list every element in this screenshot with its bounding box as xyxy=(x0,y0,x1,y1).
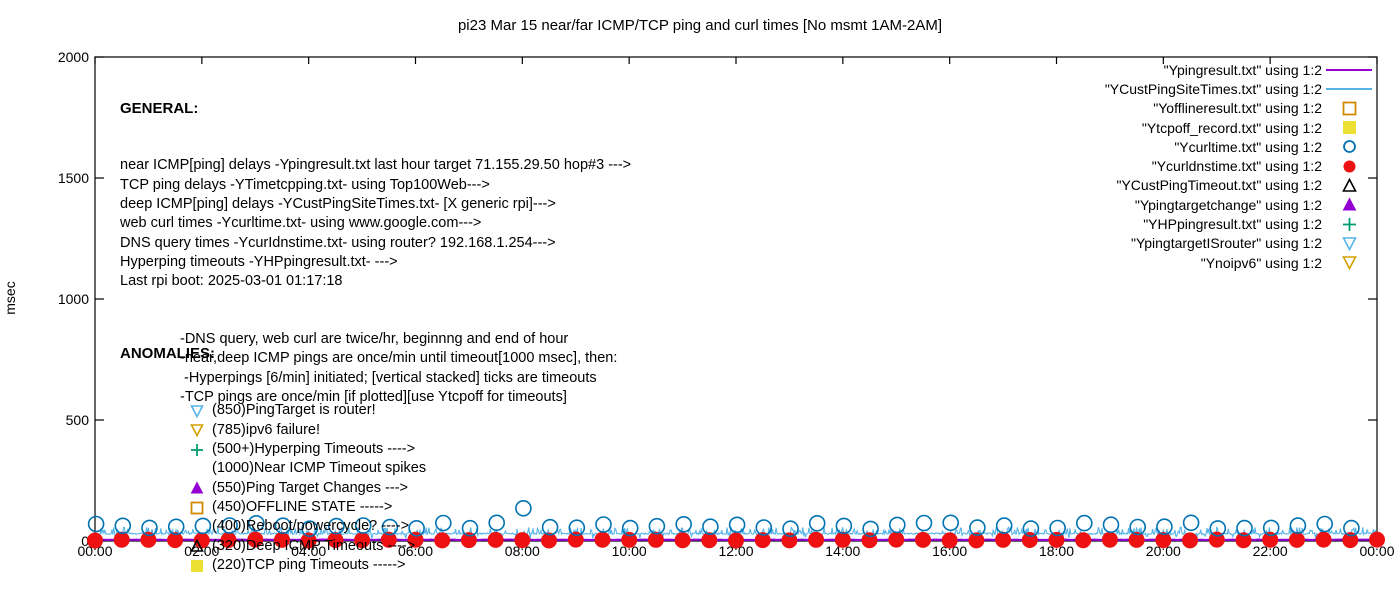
point-ycurltime xyxy=(997,518,1012,533)
point-ycurldnstime xyxy=(488,532,503,547)
legend-key-ypingtargetchange xyxy=(1322,197,1376,212)
legend-key-ypingtargetisrouter xyxy=(1322,236,1376,251)
point-ycurldnstime xyxy=(729,533,744,548)
point-ycurltime xyxy=(1157,519,1172,534)
anomalies-heading: ANOMALIES: xyxy=(120,344,426,363)
chart-root: pi23 Mar 15 near/far ICMP/TCP ping and c… xyxy=(0,0,1400,600)
legend-label: "Ycurltime.txt" using 1:2 xyxy=(1174,139,1322,155)
anomaly-label: (320)Deep ICMP Timeouts ----> xyxy=(212,537,415,556)
point-ycurldnstime xyxy=(675,533,690,548)
anomaly-label: (550)Ping Target Changes ---> xyxy=(212,479,408,498)
point-ycurldnstime xyxy=(1183,533,1198,548)
legend-item-ycustpingsitetimes[interactable]: "YCustPingSiteTimes.txt" using 1:2 xyxy=(1105,79,1376,98)
point-ycurldnstime xyxy=(435,533,450,548)
legend-key-ycustpingtimeout xyxy=(1322,178,1376,193)
open-square-icon xyxy=(190,501,204,515)
legend-item-ypingtargetisrouter[interactable]: "YpingtargetISrouter" using 1:2 xyxy=(1105,234,1376,253)
open-triangle-down-icon xyxy=(1342,255,1357,270)
anomaly-row-2: (500+)Hyperping Timeouts ----> xyxy=(120,440,426,459)
point-ycurltime xyxy=(489,515,504,530)
general-heading: GENERAL: xyxy=(120,99,631,118)
legend-label: "YHPpingresult.txt" using 1:2 xyxy=(1143,216,1322,232)
plus-icon xyxy=(190,443,204,457)
point-ycurldnstime xyxy=(809,532,824,547)
anomaly-row-6: (400)Reboot/powercycle? ----> xyxy=(120,517,426,536)
legend-label: "Ypingtargetchange" using 1:2 xyxy=(1135,197,1322,213)
point-ycurldnstime xyxy=(515,533,530,548)
point-ycurltime xyxy=(543,520,558,535)
anomaly-marker-filled-triangle-up xyxy=(190,481,212,495)
anomaly-row-1: (785)ipv6 failure! xyxy=(120,421,426,440)
point-ycurldnstime xyxy=(88,533,103,548)
legend-label: "Yofflineresult.txt" using 1:2 xyxy=(1153,100,1322,116)
point-ycurldnstime xyxy=(595,532,610,547)
point-ycurldnstime xyxy=(942,533,957,548)
legend-label: "Ypingresult.txt" using 1:2 xyxy=(1164,62,1322,78)
point-ycurltime xyxy=(649,519,664,534)
point-ycurltime xyxy=(676,517,691,532)
anomaly-marker-open-square xyxy=(190,501,212,515)
anomaly-marker-open-triangle-down xyxy=(190,404,212,418)
point-ycurltime xyxy=(1077,516,1092,531)
general-line-2: deep ICMP[ping] delays -YCustPingSiteTim… xyxy=(120,195,631,214)
point-ycurltime xyxy=(890,517,905,532)
legend-key-yofflineresult xyxy=(1322,101,1376,116)
legend-label: "Ytcpoff_record.txt" using 1:2 xyxy=(1142,120,1322,136)
point-ycurldnstime xyxy=(1076,533,1091,548)
line-swatch-icon xyxy=(1326,69,1372,71)
general-line-0: near ICMP[ping] delays -Ypingresult.txt … xyxy=(120,156,631,175)
open-triangle-up-icon xyxy=(190,539,204,553)
anomaly-marker-open-triangle-up xyxy=(190,539,212,553)
anomaly-label: (785)ipv6 failure! xyxy=(212,421,320,440)
legend-item-ycurltime[interactable]: "Ycurltime.txt" using 1:2 xyxy=(1105,137,1376,156)
plus-icon xyxy=(1342,217,1357,232)
anomaly-label: (500+)Hyperping Timeouts ----> xyxy=(212,440,415,459)
point-ycurltime xyxy=(1104,517,1119,532)
point-ycurldnstime xyxy=(648,532,663,547)
legend-item-ypingtargetchange[interactable]: "Ypingtargetchange" using 1:2 xyxy=(1105,195,1376,214)
anomaly-row-3: (1000)Near ICMP Timeout spikes xyxy=(120,459,426,478)
anomaly-label: (220)TCP ping Timeouts -----> xyxy=(212,556,406,575)
line-swatch-icon xyxy=(1326,88,1372,90)
anomaly-row-4: (550)Ping Target Changes ---> xyxy=(120,479,426,498)
point-ycurltime xyxy=(836,518,851,533)
point-ycurltime xyxy=(436,516,451,531)
filled-triangle-up-icon xyxy=(190,481,204,495)
legend-label: "YCustPingTimeout.txt" using 1:2 xyxy=(1116,177,1322,193)
point-ycurltime xyxy=(703,519,718,534)
legend-item-ynoipv6[interactable]: "Ynoipv6" using 1:2 xyxy=(1105,253,1376,272)
open-triangle-down-icon xyxy=(190,404,204,418)
legend-item-ycurldnstime[interactable]: "Ycurldnstime.txt" using 1:2 xyxy=(1105,156,1376,175)
legend-label: "YCustPingSiteTimes.txt" using 1:2 xyxy=(1105,81,1322,97)
anomaly-marker-filled-square xyxy=(190,559,212,573)
legend-label: "Ynoipv6" using 1:2 xyxy=(1201,255,1322,271)
point-ycurltime xyxy=(1317,517,1332,532)
legend-item-yhppingresult[interactable]: "YHPpingresult.txt" using 1:2 xyxy=(1105,214,1376,233)
point-ycurldnstime xyxy=(702,533,717,548)
legend-item-ycustpingtimeout[interactable]: "YCustPingTimeout.txt" using 1:2 xyxy=(1105,176,1376,195)
filled-square-icon xyxy=(190,559,204,573)
point-ycurltime xyxy=(810,516,825,531)
filled-triangle-up-icon xyxy=(1342,197,1357,212)
point-ycurltime xyxy=(516,501,531,516)
anomaly-label: (450)OFFLINE STATE -----> xyxy=(212,498,392,517)
legend-item-ytcpoff_record[interactable]: "Ytcpoff_record.txt" using 1:2 xyxy=(1105,118,1376,137)
anomaly-row-8: (220)TCP ping Timeouts -----> xyxy=(120,556,426,575)
anomaly-label: (850)PingTarget is router! xyxy=(212,401,376,420)
legend-key-ycurltime xyxy=(1322,139,1376,154)
legend-label: "YpingtargetISrouter" using 1:2 xyxy=(1131,235,1322,251)
open-triangle-down-icon xyxy=(1342,236,1357,251)
anomaly-marker-open-triangle-down xyxy=(190,423,212,437)
open-triangle-up-icon xyxy=(1342,178,1357,193)
filled-circle-icon xyxy=(1342,159,1357,174)
legend-label: "Ycurldnstime.txt" using 1:2 xyxy=(1152,158,1322,174)
anomaly-row-0: (850)PingTarget is router! xyxy=(120,401,426,420)
point-ycurltime xyxy=(917,516,932,531)
legend-item-yofflineresult[interactable]: "Yofflineresult.txt" using 1:2 xyxy=(1105,99,1376,118)
point-ycurldnstime xyxy=(996,532,1011,547)
point-ycurltime xyxy=(1184,515,1199,530)
legend-item-ypingresult[interactable]: "Ypingresult.txt" using 1:2 xyxy=(1105,60,1376,79)
point-ycurltime xyxy=(89,517,104,532)
anomaly-row-7: (320)Deep ICMP Timeouts ----> xyxy=(120,537,426,556)
point-ycurldnstime xyxy=(889,532,904,547)
point-ycurldnstime xyxy=(835,532,850,547)
point-ycurldnstime xyxy=(1316,532,1331,547)
point-ycurltime xyxy=(943,515,958,530)
general-line-6: Last rpi boot: 2025-03-01 01:17:18 xyxy=(120,272,631,291)
open-circle-icon xyxy=(1342,139,1357,154)
legend-key-ypingresult xyxy=(1322,69,1376,71)
general-line-4: DNS query times -YcurIdnstime.txt- using… xyxy=(120,234,631,253)
legend-key-ytcpoff_record xyxy=(1322,120,1376,135)
general-line-1: TCP ping delays -YTimetcpping.txt- using… xyxy=(120,176,631,195)
legend-key-ynoipv6 xyxy=(1322,255,1376,270)
legend-key-ycustpingsitetimes xyxy=(1322,88,1376,90)
point-ycurldnstime xyxy=(1102,532,1117,547)
anomaly-rows: (850)PingTarget is router!(785)ipv6 fail… xyxy=(120,401,426,575)
point-ycurldnstime xyxy=(1289,532,1304,547)
point-ycurltime xyxy=(730,517,745,532)
anomalies-annotation-block: ANOMALIES: (850)PingTarget is router!(78… xyxy=(120,305,426,614)
point-ycurldnstime xyxy=(916,532,931,547)
anomaly-label: (400)Reboot/powercycle? ----> xyxy=(212,517,409,536)
open-square-icon xyxy=(1342,101,1357,116)
chart-legend: "Ypingresult.txt" using 1:2"YCustPingSit… xyxy=(1105,60,1376,272)
general-lines: near ICMP[ping] delays -Ypingresult.txt … xyxy=(120,156,631,291)
point-ycurldnstime xyxy=(1370,532,1385,547)
anomaly-marker-plus xyxy=(190,443,212,457)
legend-key-ycurldnstime xyxy=(1322,159,1376,174)
filled-square-icon xyxy=(1342,120,1357,135)
anomaly-row-5: (450)OFFLINE STATE -----> xyxy=(120,498,426,517)
general-line-3: web curl times -Ycurltime.txt- using www… xyxy=(120,214,631,233)
open-triangle-down-icon xyxy=(190,423,204,437)
general-line-5: Hyperping timeouts -YHPpingresult.txt- -… xyxy=(120,253,631,272)
legend-key-yhppingresult xyxy=(1322,217,1376,232)
anomaly-label: (1000)Near ICMP Timeout spikes xyxy=(212,459,426,478)
